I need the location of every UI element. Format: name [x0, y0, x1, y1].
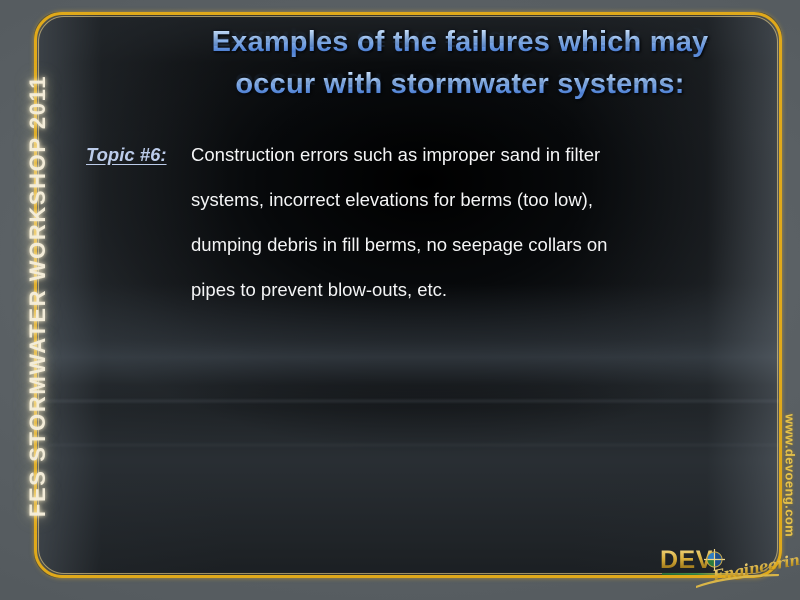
presentation-slide: Examples of the failures which may Examp…	[0, 0, 800, 600]
logo-swoosh-icon	[696, 574, 780, 590]
body-text-line-4: pipes to prevent blow-outs, etc.	[191, 275, 447, 305]
body-line-3: dumping debris in fill berms, no seepage…	[86, 230, 706, 275]
slide-body: Topic #6: Construction errors such as im…	[86, 140, 706, 320]
topic-label: Topic #6:	[86, 140, 167, 170]
devo-logo[interactable]: DEV Engineering	[660, 540, 782, 592]
body-line-1: Topic #6: Construction errors such as im…	[86, 140, 706, 185]
body-text-line-3: dumping debris in fill berms, no seepage…	[191, 230, 607, 260]
body-line-2: systems, incorrect elevations for berms …	[86, 185, 706, 230]
body-text-line-2: systems, incorrect elevations for berms …	[191, 185, 593, 215]
body-line-4: pipes to prevent blow-outs, etc.	[86, 275, 706, 320]
body-text-line-1: Construction errors such as improper san…	[191, 140, 600, 170]
